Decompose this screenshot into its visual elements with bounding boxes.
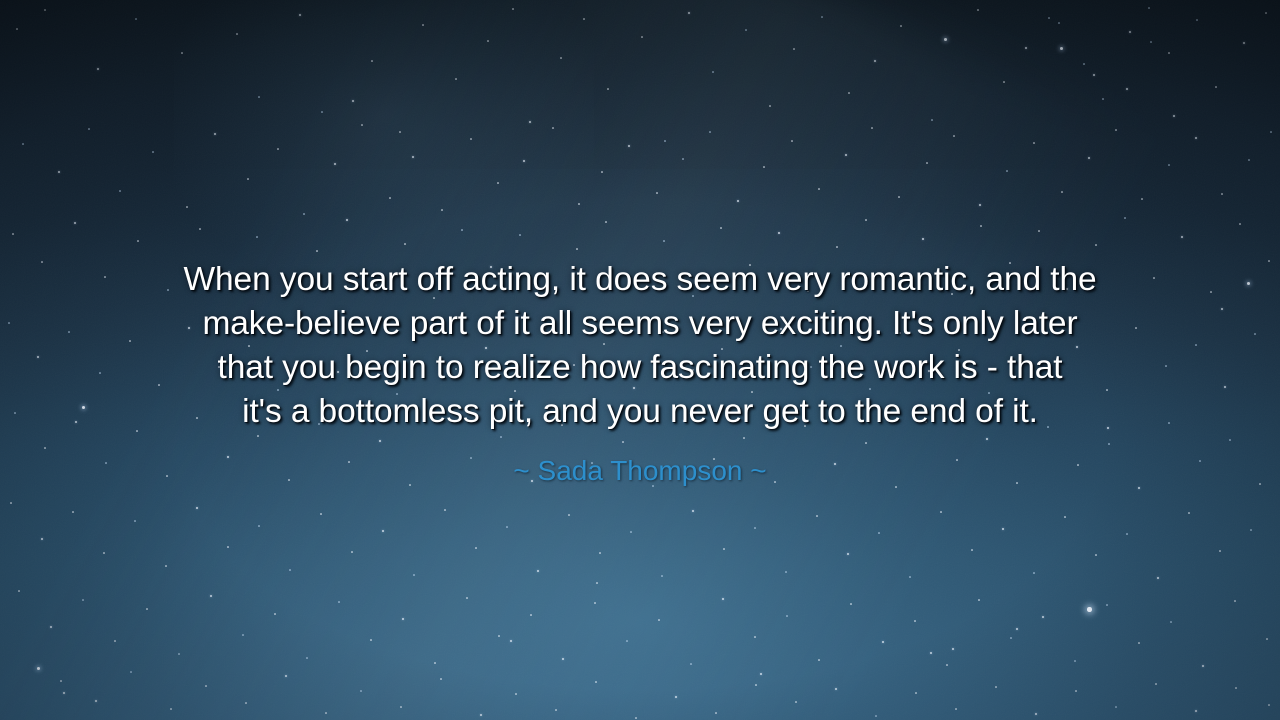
star [914,620,916,622]
star [946,664,948,666]
star [82,599,84,601]
star [41,261,43,263]
star [1060,47,1063,50]
star [196,417,198,419]
star [530,614,532,616]
star [1195,710,1197,712]
star [1235,687,1237,689]
star [274,613,276,615]
star [656,192,658,194]
star [82,406,85,409]
star [979,204,981,206]
star [227,546,229,548]
star [1181,236,1183,238]
star [599,552,601,554]
star [422,24,424,26]
star [682,158,684,160]
star [1002,528,1004,530]
star [763,166,765,168]
star [601,171,603,173]
star [514,390,516,392]
star [723,548,725,550]
star [16,28,18,30]
star [245,702,247,704]
star [847,553,849,555]
star [1265,12,1267,14]
star [1095,244,1097,246]
star [366,350,368,352]
star [635,717,637,719]
star [633,387,635,389]
star [242,634,244,636]
star [661,575,663,577]
star [10,502,12,504]
star [807,290,809,292]
star [836,246,838,248]
star [683,420,685,422]
star [955,708,957,710]
star [1064,516,1066,518]
star [375,284,377,286]
star [595,681,597,683]
star [1199,460,1201,462]
star [58,171,60,173]
star [500,436,502,438]
star [228,271,230,273]
star [1247,282,1250,285]
star [1243,42,1245,44]
star [1016,628,1018,630]
star [485,347,487,349]
star [1087,607,1092,612]
star [181,52,183,54]
star [793,48,795,50]
star [1188,512,1190,514]
star [607,88,609,90]
star [50,626,52,628]
star [1106,604,1108,606]
star [512,8,514,10]
star [1219,550,1221,552]
star [562,658,564,660]
star [188,327,190,329]
star [1266,638,1268,640]
star [951,293,953,295]
star [1165,365,1167,367]
star [277,148,279,150]
star [692,510,694,512]
star [956,459,958,461]
star [810,366,812,368]
starfield [0,0,1280,720]
star [1095,554,1097,556]
star [510,640,512,642]
star [688,12,690,14]
star [652,485,654,487]
star [596,582,598,584]
star [737,200,739,202]
star [12,233,14,235]
star [1148,7,1150,9]
star [348,461,350,463]
star [158,384,160,386]
star [256,236,258,238]
star [1259,483,1261,485]
star [1047,426,1049,428]
star [930,652,932,654]
star [440,678,442,680]
star [285,675,287,677]
star [1003,81,1005,83]
star [1115,706,1117,708]
star [490,266,492,268]
star [745,29,747,31]
star [1126,88,1128,90]
star [915,692,917,694]
star [1141,198,1143,200]
star [440,419,442,421]
star [288,479,290,481]
star [72,511,74,513]
star [1061,191,1063,193]
star [129,340,131,342]
star [1035,713,1037,715]
star [74,222,76,224]
star [1107,427,1109,429]
star [712,71,714,73]
star [754,636,756,638]
star [988,392,990,394]
star [321,111,323,113]
star [8,322,10,324]
star [755,684,757,686]
star [170,708,172,710]
star [130,671,132,673]
star [399,131,401,133]
star [925,421,927,423]
star [287,294,289,296]
star [248,345,250,347]
star [944,38,947,41]
star [119,190,121,192]
star [1124,217,1126,219]
star [519,234,521,236]
star [134,520,136,522]
star [583,18,585,20]
star [622,441,624,443]
star [1229,439,1231,441]
star [1155,683,1157,685]
star [1224,386,1226,388]
star [396,393,398,395]
star [1017,330,1019,332]
star [1250,529,1252,531]
star [277,389,279,391]
star [338,601,340,603]
star [795,701,797,703]
star [1033,142,1035,144]
star [166,475,168,477]
star [658,619,660,621]
star [865,442,867,444]
star [1138,642,1140,644]
star [1195,344,1197,346]
star [210,595,212,597]
star [441,209,443,211]
star [760,673,762,675]
star [461,229,463,231]
star [1075,690,1077,692]
star [544,326,546,328]
star [1210,291,1212,293]
star [875,715,877,717]
star [389,197,391,199]
star [926,162,928,164]
star [433,297,435,299]
star [95,700,97,702]
star [878,532,880,534]
star [1066,288,1068,290]
star [1058,22,1060,24]
star [882,641,884,643]
star [1048,17,1050,19]
star [909,576,911,578]
star [1215,86,1217,88]
star [816,515,818,517]
star [1009,262,1011,264]
star [848,92,850,94]
star [977,9,979,11]
star [44,9,46,11]
star [928,370,930,372]
star [1168,422,1170,424]
star [1254,333,1256,335]
star [97,68,99,70]
star [628,145,630,147]
star [14,412,16,414]
star [1221,193,1223,195]
star [715,712,717,714]
star [146,608,148,610]
star [400,706,402,708]
star [971,549,973,551]
star [1135,327,1137,329]
star [523,160,525,162]
star [537,570,539,572]
star [257,435,259,437]
star [114,640,116,642]
star [346,219,348,221]
star [379,440,381,442]
star [227,456,229,458]
star [306,657,308,659]
star [958,349,960,351]
star [214,133,216,135]
star [840,345,842,347]
star [1047,367,1049,369]
star [434,662,436,664]
star [186,206,188,208]
star [722,598,724,600]
star [850,603,852,605]
star [37,356,39,358]
star [900,25,902,27]
star [1076,346,1078,348]
star [136,430,138,432]
star [1202,665,1204,667]
star [561,424,563,426]
nebula-glow-patch [174,0,594,280]
star [1168,164,1170,166]
star [205,685,207,687]
star [980,225,982,227]
star [22,143,24,145]
star [318,423,320,425]
star [1115,129,1117,131]
corner-vignette [0,0,1280,720]
star [720,227,722,229]
star-dust-grain-texture [0,0,1280,720]
star [1239,223,1241,225]
star [1168,52,1170,54]
star [754,527,756,529]
star [360,690,362,692]
star [218,366,220,368]
star [835,688,837,690]
star [751,391,753,393]
star [1126,533,1128,535]
star [370,639,372,641]
star [986,438,988,440]
star [641,36,643,38]
star [1196,19,1198,21]
star [594,602,596,604]
star [1042,616,1044,618]
star [165,565,167,567]
star [869,388,871,390]
quote-text: When you start off acting, it does seem … [0,258,1280,434]
star [899,332,901,334]
star [1234,600,1236,602]
star [1268,704,1270,706]
star [307,333,309,335]
star [99,372,101,374]
star [662,331,664,333]
star [1153,277,1155,279]
star [41,538,43,540]
star [1270,131,1272,133]
star [1108,443,1110,445]
star [178,653,180,655]
star [1150,41,1152,43]
milky-way-band [0,0,1280,720]
star [818,188,820,190]
star [630,531,632,533]
star [337,371,339,373]
star [402,618,404,620]
star [821,16,823,18]
star [444,509,446,511]
star [44,447,46,449]
star [548,292,550,294]
star [1077,464,1079,466]
star [1088,157,1090,159]
star [316,250,318,252]
star [466,597,468,599]
star [412,156,414,158]
star [576,248,578,250]
star [480,714,482,716]
star [1033,572,1035,574]
star [785,571,787,573]
star [63,692,65,694]
star [791,140,793,142]
star [865,219,867,221]
star [1083,63,1085,65]
star [455,368,457,370]
star [1248,159,1250,161]
star [236,33,238,35]
star [552,127,554,129]
star [531,480,533,482]
star [247,178,249,180]
star [675,696,677,698]
star [578,203,580,205]
star [573,364,575,366]
star [303,213,305,215]
star [105,462,107,464]
star [475,547,477,549]
star [804,425,806,427]
star [75,421,77,423]
star [299,14,301,16]
star [874,60,876,62]
star [692,295,694,297]
milky-way-core-glow [0,169,1280,720]
star [167,289,169,291]
star [470,457,472,459]
star [560,57,562,59]
star [425,329,427,331]
star [845,154,847,156]
star [196,507,198,509]
star [603,343,605,345]
star [1025,47,1027,49]
star [626,640,628,642]
star [774,481,776,483]
star [470,138,472,140]
star [1157,577,1159,579]
star [721,348,723,350]
star [1093,74,1095,76]
star [953,135,955,137]
star [352,100,354,102]
star [1138,487,1140,489]
star [778,232,780,234]
star [515,693,517,695]
star [893,279,895,281]
star [135,18,137,20]
star [325,712,327,714]
star [692,369,694,371]
star [351,551,353,553]
star [371,60,373,62]
star [382,530,384,532]
quote-attribution: ~ Sada Thompson ~ [0,454,1280,488]
star [404,243,406,245]
star [152,151,154,153]
star [952,648,954,650]
